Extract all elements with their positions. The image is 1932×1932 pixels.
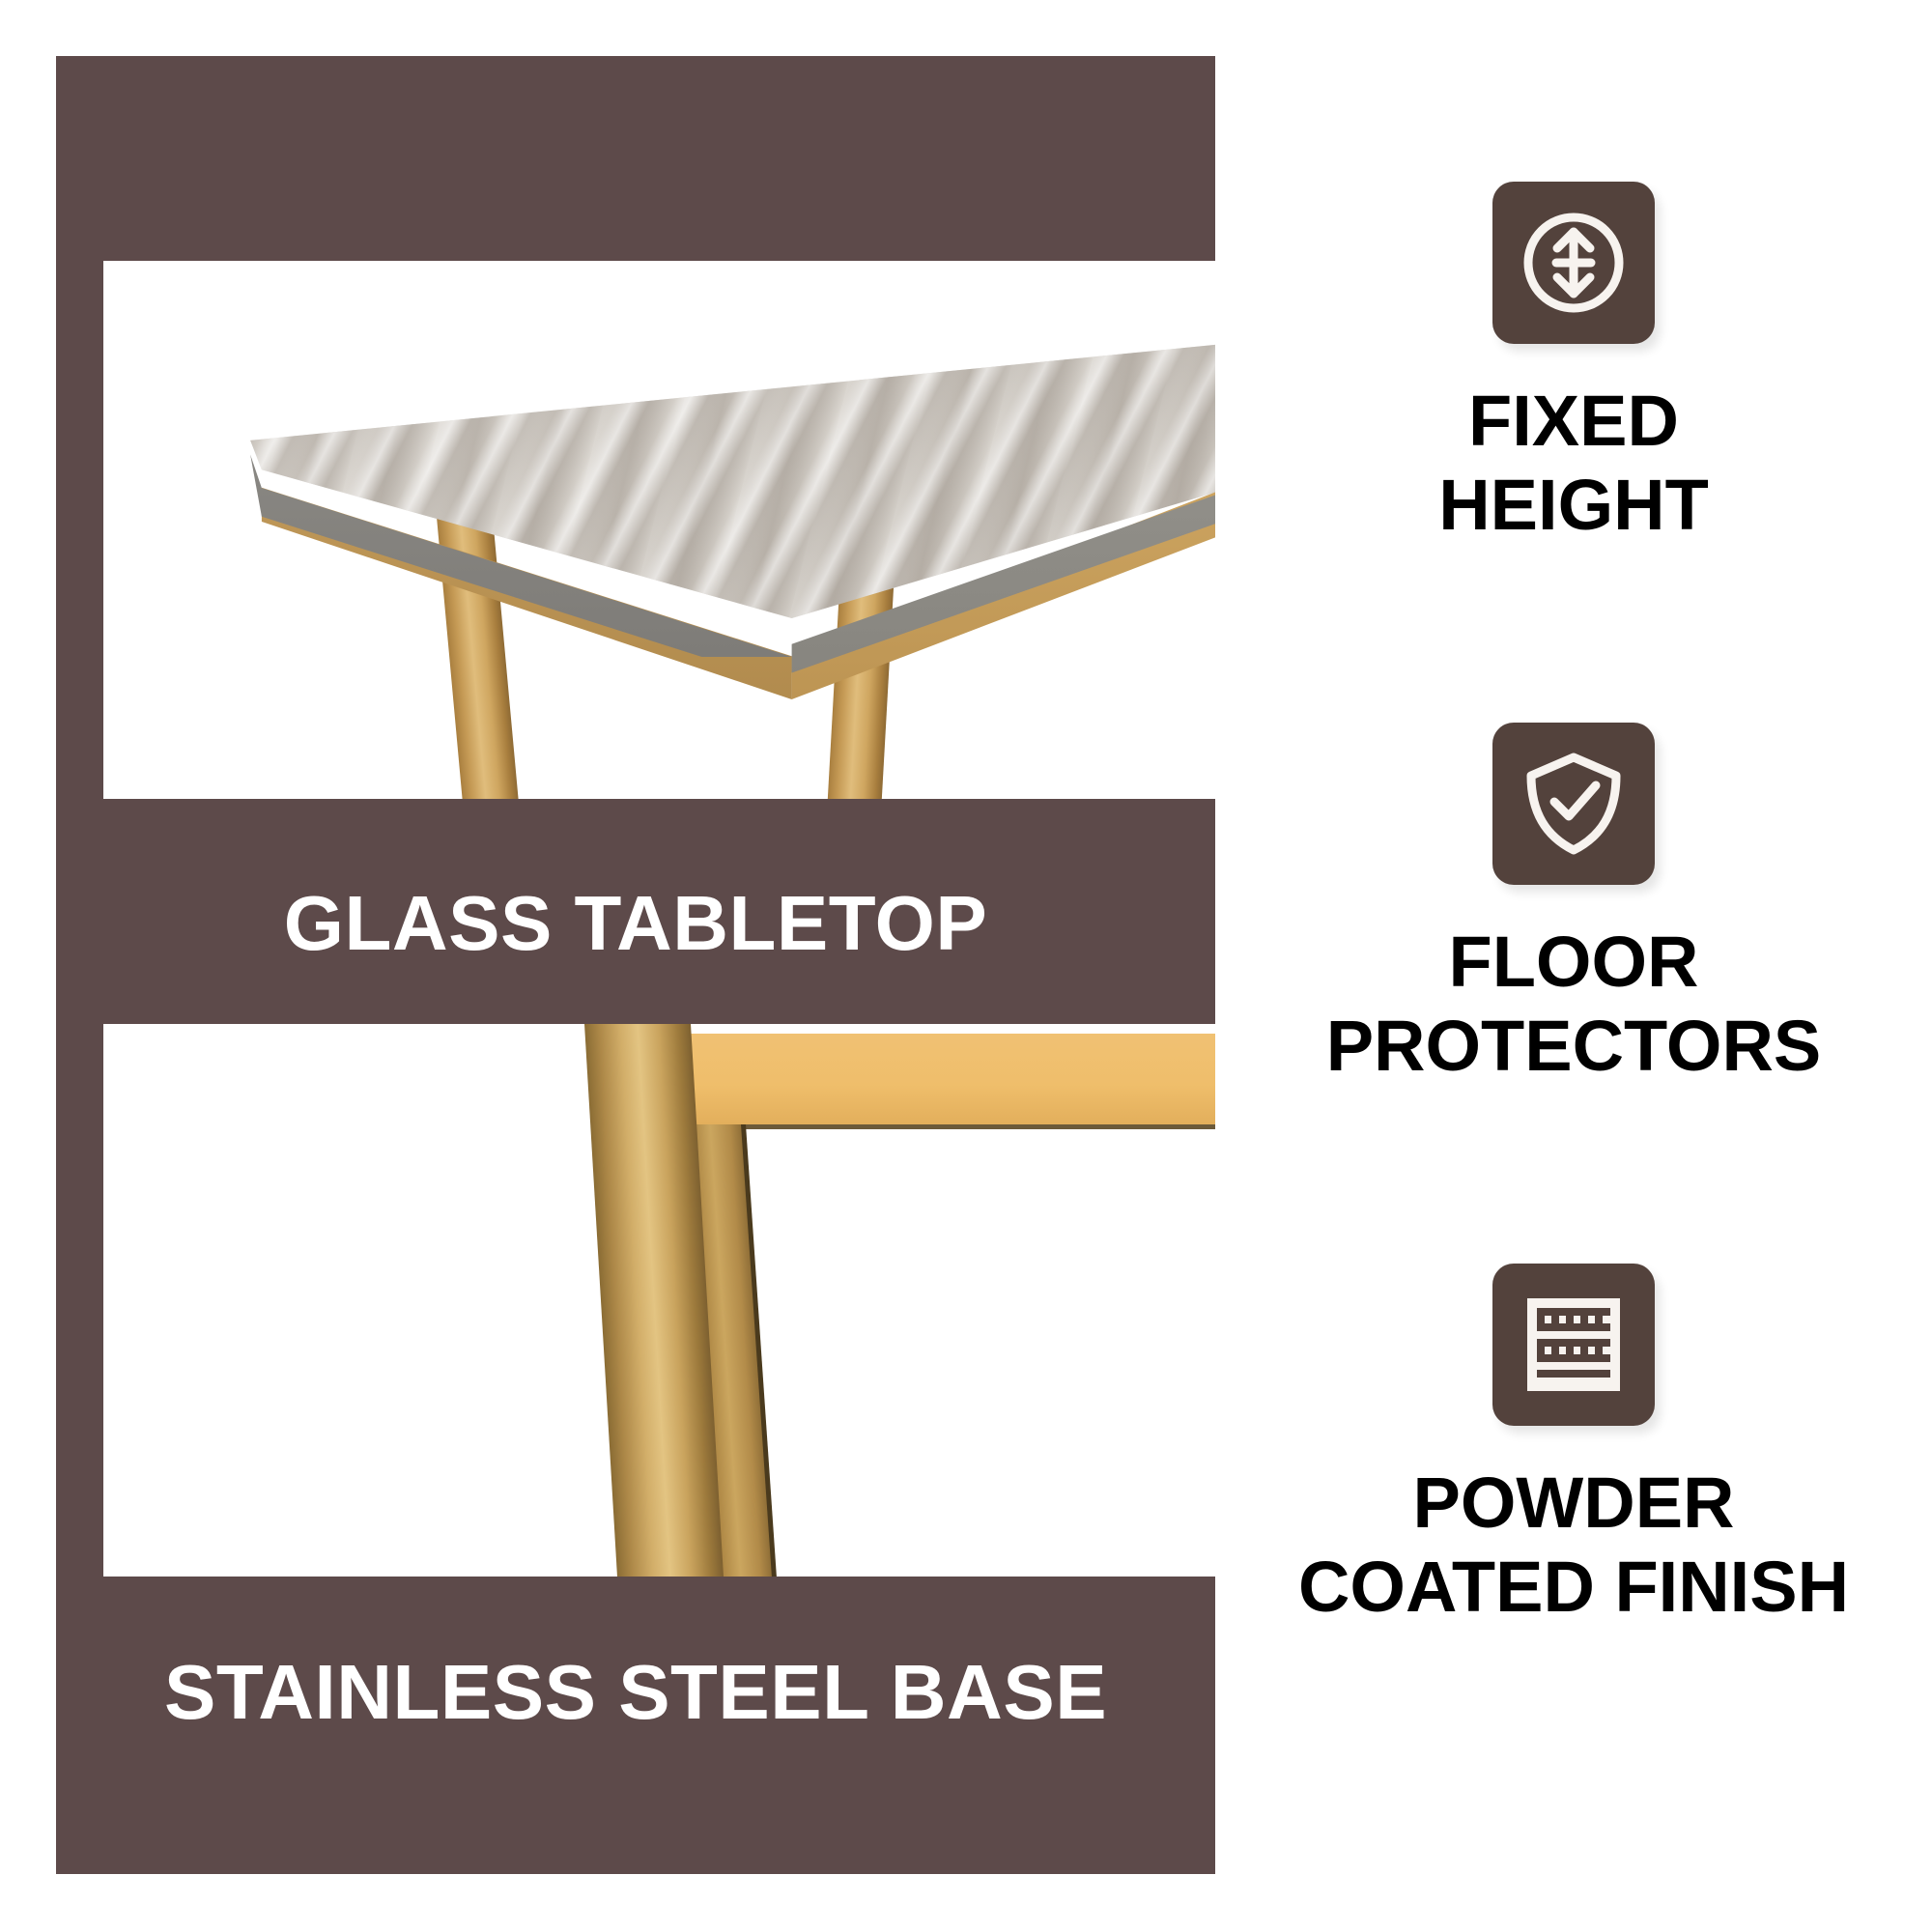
feature-fixed-height: FIXED HEIGHT <box>1215 182 1932 548</box>
feature-floor-protectors: FLOOR PROTECTORS <box>1215 723 1932 1089</box>
stainless-steel-base-photo <box>103 1024 1215 1577</box>
caption-glass-tabletop: GLASS TABLETOP <box>56 879 1215 968</box>
height-arrow-circle-icon <box>1492 182 1655 344</box>
apron-beam-shadow <box>683 1124 1215 1129</box>
feature-label-fixed-height: FIXED HEIGHT <box>1215 379 1932 548</box>
base-illustration <box>103 1024 1215 1577</box>
product-feature-panel: GLASS TABLETOP STAINLESS STEEL BASE <box>56 56 1215 1874</box>
glass-tabletop-photo <box>103 261 1215 799</box>
feature-label-floor-protectors: FLOOR PROTECTORS <box>1215 920 1932 1089</box>
apron-beam <box>683 1034 1215 1126</box>
powder-texture-grid-icon <box>1492 1264 1655 1426</box>
feature-list: FIXED HEIGHT FLOOR PROTECTORS <box>1215 56 1932 1874</box>
shield-check-icon <box>1492 723 1655 885</box>
feature-powder-coated-finish: POWDER COATED FINISH <box>1215 1264 1932 1630</box>
caption-stainless-steel-base: STAINLESS STEEL BASE <box>56 1648 1215 1737</box>
feature-label-powder-coated-finish: POWDER COATED FINISH <box>1215 1461 1932 1630</box>
tabletop-illustration <box>103 261 1215 799</box>
